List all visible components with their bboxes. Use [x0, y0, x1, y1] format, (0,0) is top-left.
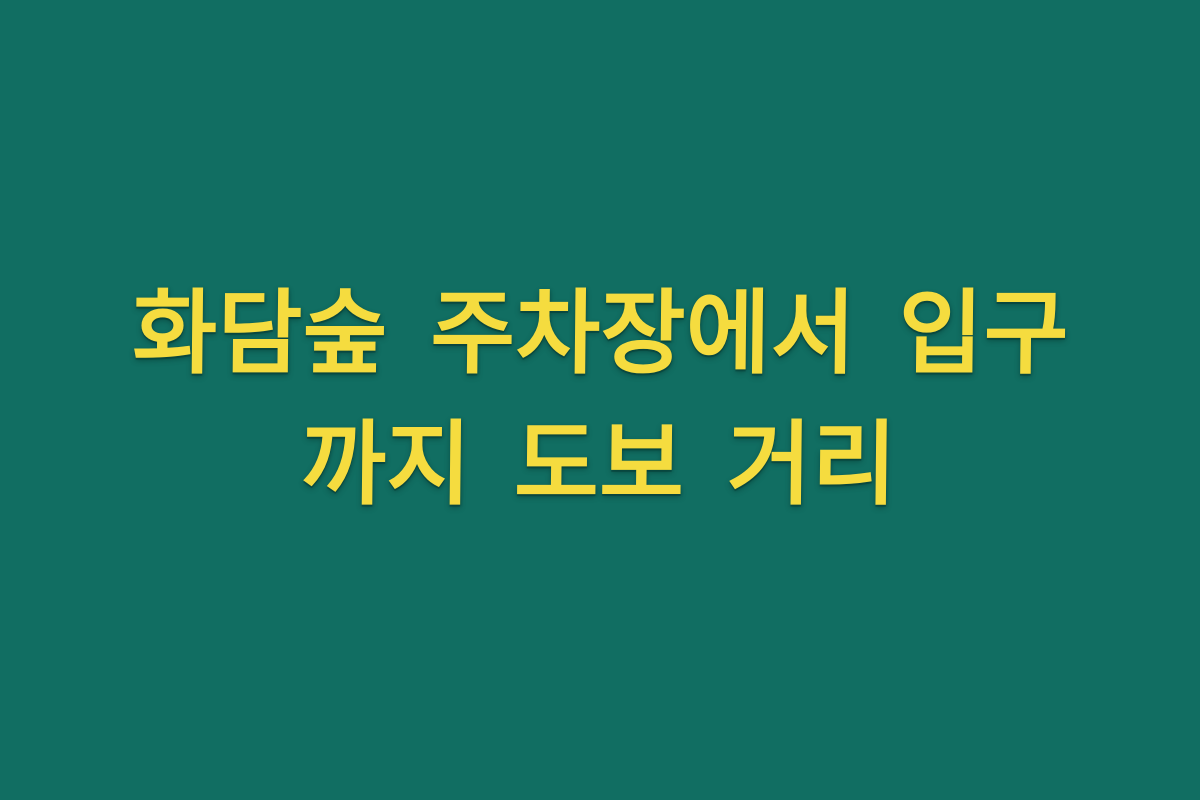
title-card: 화담숲 주차장에서 입구 까지 도보 거리 — [0, 0, 1200, 800]
title-line-2: 까지 도보 거리 — [39, 400, 1160, 531]
title-line-1: 화담숲 주차장에서 입구 — [40, 269, 1161, 400]
page-title: 화담숲 주차장에서 입구 까지 도보 거리 — [39, 269, 1162, 530]
